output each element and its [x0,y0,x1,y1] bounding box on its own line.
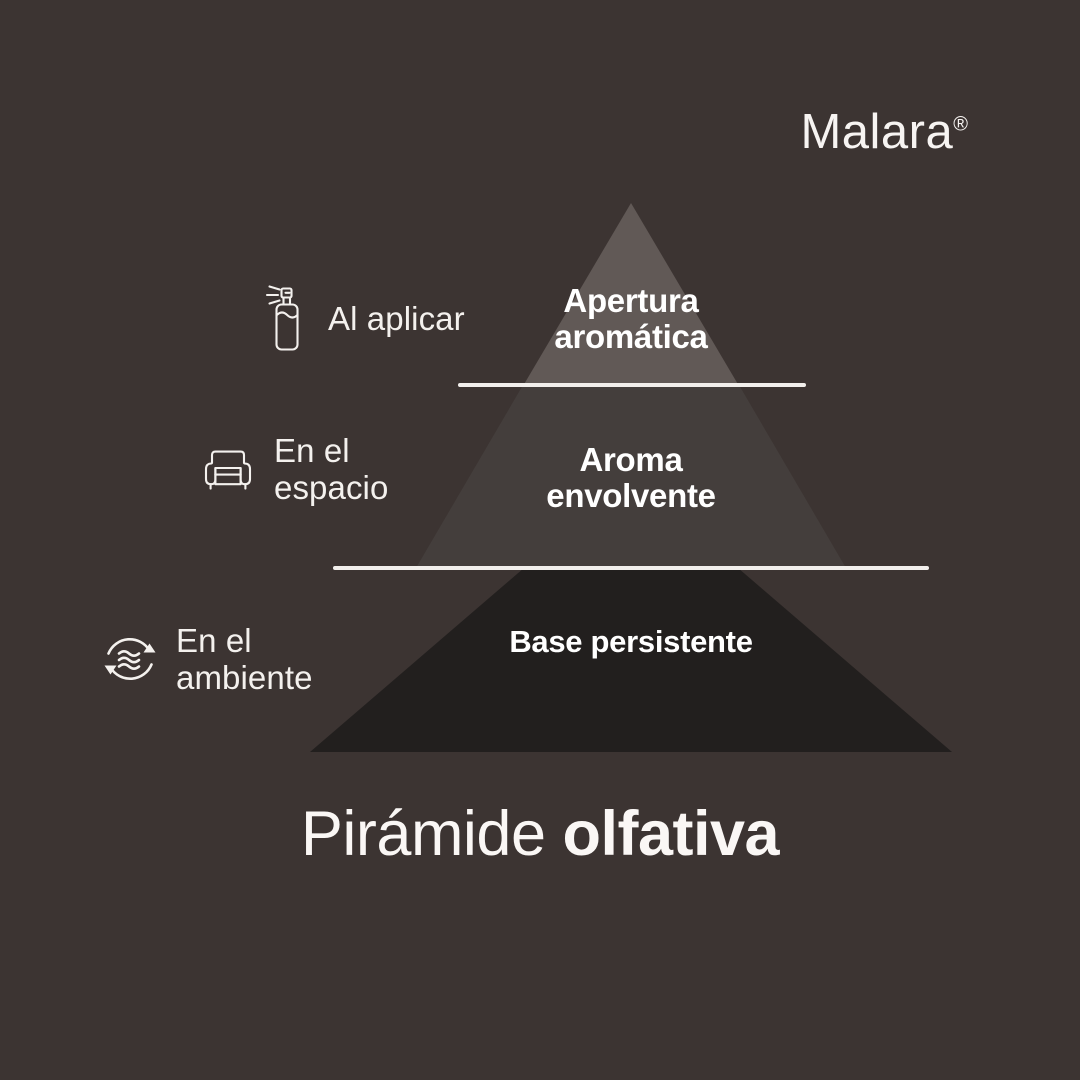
tier-label-top: Apertura aromática [431,283,831,354]
page-title: Pirámide olfativa [0,800,1080,869]
page-title-bold: olfativa [563,799,780,869]
brand-name: Malara [800,105,953,159]
registered-trademark-icon: ® [953,114,968,136]
spray-bottle-icon [264,284,310,354]
poster-canvas: Malara® Apertura aromática Aroma envolve… [0,0,1080,1080]
step-apply: Al aplicar [264,284,465,354]
tier-label-base: Base persistente [431,625,831,658]
divider-middle [333,566,929,570]
step-apply-label: Al aplicar [328,300,465,337]
pyramid-tier-base [310,568,952,752]
tier-label-middle: Aroma envolvente [431,442,831,513]
armchair-icon [200,441,256,497]
step-ambient: En el ambiente [102,622,313,697]
air-circulation-icon [102,631,158,687]
step-ambient-label: En el ambiente [176,622,313,697]
page-title-light: Pirámide [301,799,546,869]
step-space-label: En el espacio [274,432,388,507]
brand-logo: Malara® [800,108,968,157]
divider-top [458,383,806,387]
step-space: En el espacio [200,432,388,507]
